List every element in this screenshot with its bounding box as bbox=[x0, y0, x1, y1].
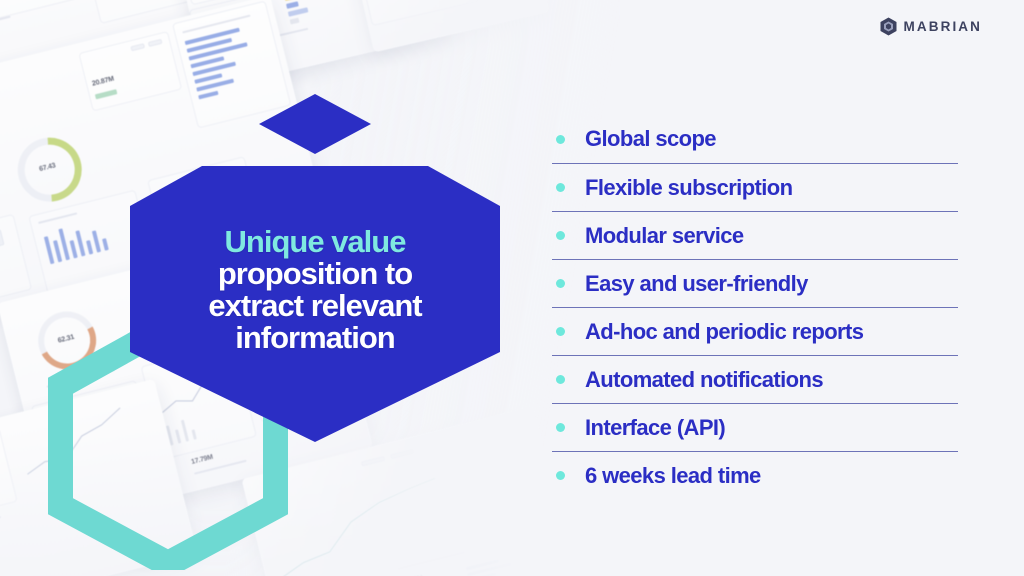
list-item[interactable]: Flexible subscription bbox=[552, 163, 958, 211]
brand-name: MABRIAN bbox=[904, 19, 982, 34]
feature-label: Ad-hoc and periodic reports bbox=[585, 319, 863, 345]
list-item[interactable]: Ad-hoc and periodic reports bbox=[552, 307, 958, 355]
brand-logo: MABRIAN bbox=[880, 17, 982, 36]
list-item[interactable]: Interface (API) bbox=[552, 403, 958, 451]
bullet-icon bbox=[556, 471, 565, 480]
feature-label: Automated notifications bbox=[585, 367, 823, 393]
list-item[interactable]: Modular service bbox=[552, 211, 958, 259]
list-item[interactable]: Global scope bbox=[552, 115, 958, 163]
headline-line-2: proposition to bbox=[218, 258, 412, 290]
bullet-icon bbox=[556, 135, 565, 144]
hexagon-headline: Unique value proposition to extract rele… bbox=[130, 94, 500, 442]
feature-label: Flexible subscription bbox=[585, 175, 792, 201]
feature-label: Modular service bbox=[585, 223, 744, 249]
bullet-icon bbox=[556, 279, 565, 288]
feature-label: Easy and user-friendly bbox=[585, 271, 808, 297]
headline-line-4: information bbox=[235, 322, 395, 354]
headline-line-3: extract relevant bbox=[208, 290, 421, 322]
feature-label: Global scope bbox=[585, 126, 716, 152]
bullet-icon bbox=[556, 375, 565, 384]
bullet-icon bbox=[556, 423, 565, 432]
hexagon-logo-icon bbox=[880, 17, 897, 36]
list-item[interactable]: 6 weeks lead time bbox=[552, 451, 958, 499]
feature-label: Interface (API) bbox=[585, 415, 725, 441]
bullet-icon bbox=[556, 231, 565, 240]
bullet-icon bbox=[556, 183, 565, 192]
feature-list: Global scope Flexible subscription Modul… bbox=[552, 115, 958, 499]
bullet-icon bbox=[556, 327, 565, 336]
dashboard-mock-3 bbox=[340, 0, 549, 52]
headline-line-1: Unique value bbox=[225, 226, 406, 258]
blue-hexagon: Unique value proposition to extract rele… bbox=[130, 94, 500, 442]
slide-root: 67.47 4.8K Arrivals 14.8M 4.49M 18.97M T… bbox=[0, 0, 1024, 576]
feature-label: 6 weeks lead time bbox=[585, 463, 761, 489]
list-item[interactable]: Automated notifications bbox=[552, 355, 958, 403]
list-item[interactable]: Easy and user-friendly bbox=[552, 259, 958, 307]
